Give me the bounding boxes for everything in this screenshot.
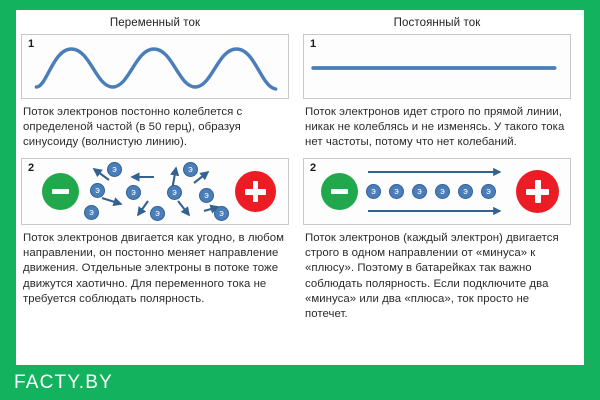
column-title-ac: Переменный ток xyxy=(21,16,289,31)
column-direct-current: Постоянный ток 1 Поток электронов идет с… xyxy=(303,14,571,365)
caption-dc-2: Поток электронов (каждый электрон) двига… xyxy=(303,225,571,322)
panel-dc-waveform: 1 xyxy=(303,34,571,99)
sine-wave-icon xyxy=(22,35,288,98)
straight-line-icon xyxy=(304,35,570,98)
panel-number-ac-2: 2 xyxy=(28,162,34,174)
watermark-label: FACTY.BY xyxy=(14,372,113,394)
electron-field-directed: э э э э э э xyxy=(304,159,570,224)
column-alternating-current: Переменный ток 1 Поток электронов постон… xyxy=(21,14,289,365)
electron-field-chaotic: э э э э э э э э э xyxy=(22,159,288,224)
watermark-logo: FACTY.BY xyxy=(0,365,135,400)
caption-ac-2: Поток электронов двигается как угодно, в… xyxy=(21,225,289,306)
panel-ac-waveform: 1 xyxy=(21,34,289,99)
panel-number-ac-1: 1 xyxy=(28,38,34,50)
panel-number-dc-2: 2 xyxy=(310,162,316,174)
infographic-root: Переменный ток 1 Поток электронов постон… xyxy=(0,0,600,400)
caption-ac-2-text: Поток электронов двигается как угодно, в… xyxy=(23,231,287,306)
column-title-dc: Постоянный ток xyxy=(303,16,571,31)
caption-dc-2-text: Поток электронов (каждый электрон) двига… xyxy=(305,231,569,322)
caption-dc-1: Поток электронов идет строго по прямой л… xyxy=(303,99,571,150)
caption-ac-1: Поток электронов постонно колеблется с о… xyxy=(21,99,289,150)
panel-dc-electrons: 2 xyxy=(303,158,571,225)
panel-number-dc-1: 1 xyxy=(310,38,316,50)
spacer-ac xyxy=(21,150,289,158)
caption-dc-1-text: Поток электронов идет строго по прямой л… xyxy=(305,105,569,150)
panel-ac-electrons: 2 xyxy=(21,158,289,225)
spacer-dc xyxy=(303,150,571,158)
columns-container: Переменный ток 1 Поток электронов постон… xyxy=(16,10,584,365)
caption-ac-1-text: Поток электронов постонно колеблется с о… xyxy=(23,105,287,150)
